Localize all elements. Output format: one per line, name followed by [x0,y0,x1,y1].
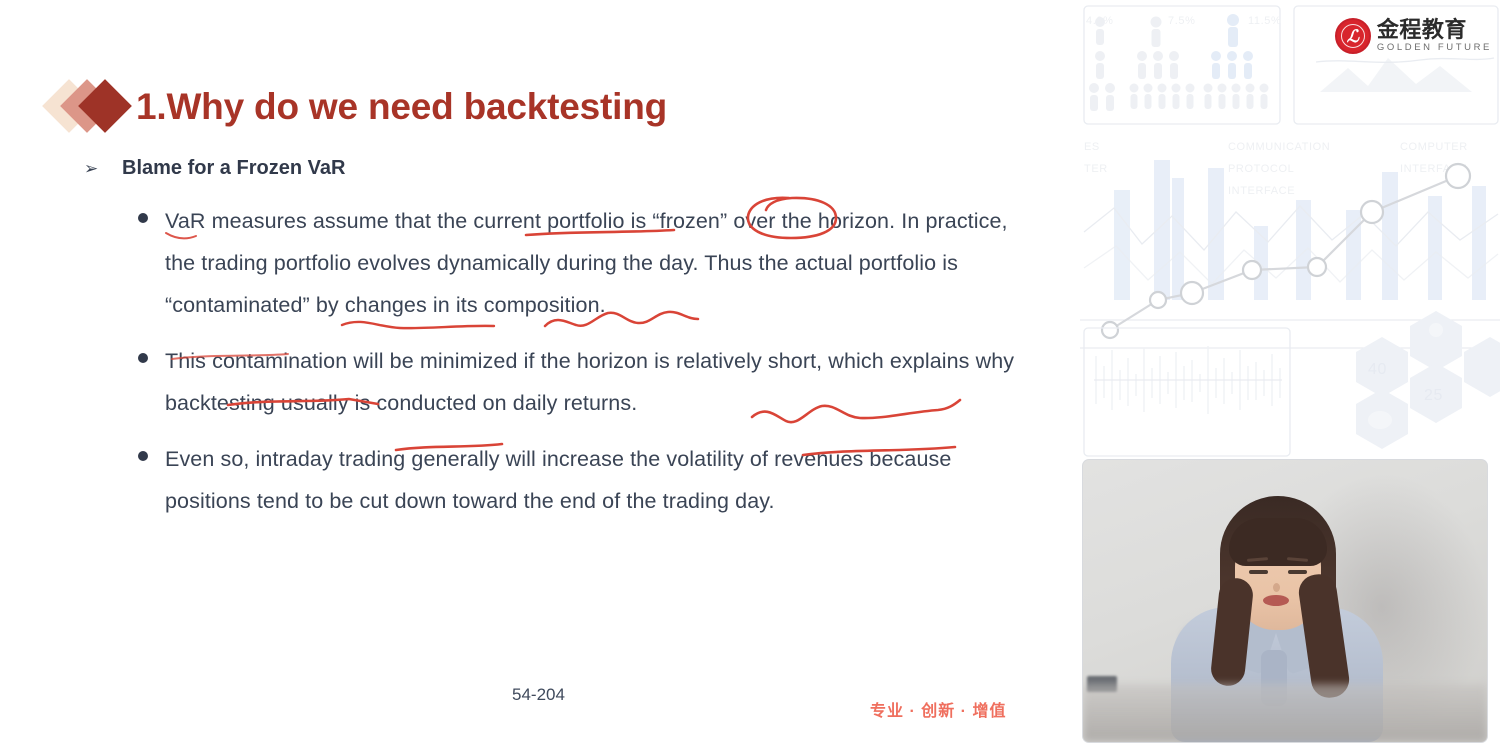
video-nose [1273,583,1280,592]
diamond-decoration-icon [50,78,128,134]
background-infographic: .ff { fill:#eef0f4; } .fb { fill:#e4ecf7… [1080,0,1500,460]
bullet-text: This contamination will be minimized if … [165,340,1038,424]
video-hair-fringe [1229,518,1327,566]
brand-logo: ℒ 金程教育 GOLDEN FUTURE [1335,18,1492,54]
page-number: 54-204 [512,685,565,705]
logo-wordmark: 金程教育 GOLDEN FUTURE [1377,19,1492,53]
svg-text:4.0%: 4.0% [1086,15,1113,27]
svg-text:INTERFACE: INTERFACE [1228,185,1295,197]
svg-text:25: 25 [1424,387,1443,404]
video-eye-right [1288,570,1307,574]
svg-text:COMMUNICATION: COMMUNICATION [1228,141,1330,153]
svg-text:40: 40 [1368,361,1387,378]
video-eye-left [1249,570,1268,574]
presenter-video[interactable] [1083,460,1487,742]
list-item: Even so, intraday trading generally will… [138,438,1038,522]
slide-title-row: 1.Why do we need backtesting [50,78,667,134]
sub-heading-row: ➢ Blame for a Frozen VaR [84,157,345,180]
svg-text:7.5%: 7.5% [1168,15,1195,27]
svg-text:PROTOCOL: PROTOCOL [1228,163,1294,175]
logo-seal-glyph: ℒ [1347,28,1359,45]
page-title: 1.Why do we need backtesting [136,88,667,125]
logo-english-name: GOLDEN FUTURE [1377,43,1492,53]
svg-text:11.5%: 11.5% [1248,15,1281,27]
list-item: This contamination will be minimized if … [138,340,1038,424]
video-desk [1083,684,1487,742]
svg-text:TER: TER [1084,163,1108,175]
logo-seal-icon: ℒ [1335,18,1371,54]
list-item: VaR measures assume that the current por… [138,200,1038,326]
logo-chinese-name: 金程教育 [1377,19,1492,41]
sub-heading-label: Blame for a Frozen VaR [122,157,345,180]
bullet-list: VaR measures assume that the current por… [138,200,1038,536]
video-mouth [1263,595,1289,606]
svg-text:ES: ES [1084,141,1100,153]
bullet-dot-icon [138,200,165,326]
right-panel: .ff { fill:#eef0f4; } .fb { fill:#e4ecf7… [1075,0,1500,750]
bullet-text: VaR measures assume that the current por… [165,200,1038,326]
arrow-bullet-icon: ➢ [84,160,122,177]
slide-canvas: 1.Why do we need backtesting ➢ Blame for… [0,0,1075,750]
bullet-dot-icon [138,340,165,424]
bullet-text: Even so, intraday trading generally will… [165,438,1038,522]
svg-text:COMPUTER: COMPUTER [1400,141,1468,153]
brand-slogan: 专业 · 创新 · 增值 [870,697,1006,721]
bullet-dot-icon [138,438,165,522]
